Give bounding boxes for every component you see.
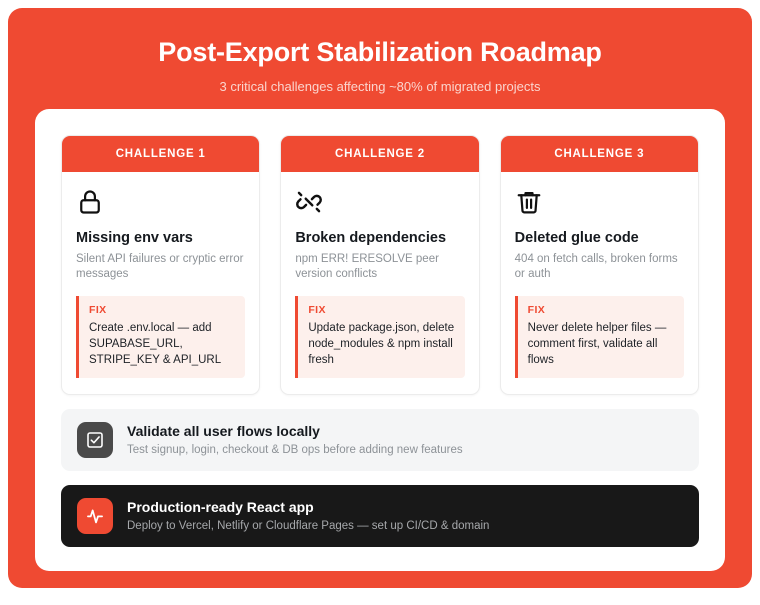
fix-text: Create .env.local — add SUPABASE_URL, ST…: [89, 320, 235, 368]
lock-icon: [76, 188, 104, 216]
challenge-badge: CHALLENGE 3: [501, 136, 698, 172]
fix-box: FIX Never delete helper files — comment …: [515, 296, 684, 378]
screenshot-root: Post-Export Stabilization Roadmap 3 crit…: [0, 0, 760, 605]
production-banner[interactable]: Production-ready React app Deploy to Ver…: [61, 485, 699, 547]
challenge-description: npm ERR! ERESOLVE peer version conflicts: [295, 252, 464, 282]
challenge-grid: CHALLENGE 1 Missing env vars Silent API …: [61, 135, 699, 395]
page-title: Post-Export Stabilization Roadmap: [28, 36, 732, 68]
page-subtitle: 3 critical challenges affecting ~80% of …: [28, 78, 732, 95]
validate-banner-title: Validate all user flows locally: [127, 423, 463, 440]
fix-box: FIX Create .env.local — add SUPABASE_URL…: [76, 296, 245, 378]
content-panel: CHALLENGE 1 Missing env vars Silent API …: [35, 109, 725, 571]
poster-header: Post-Export Stabilization Roadmap 3 crit…: [8, 8, 752, 109]
challenge-description: Silent API failures or cryptic error mes…: [76, 252, 245, 282]
fix-box: FIX Update package.json, delete node_mod…: [295, 296, 464, 378]
fix-label: FIX: [89, 304, 235, 316]
challenge-body: Missing env vars Silent API failures or …: [62, 172, 259, 394]
production-banner-title: Production-ready React app: [127, 499, 489, 516]
challenge-badge: CHALLENGE 1: [62, 136, 259, 172]
challenge-description: 404 on fetch calls, broken forms or auth: [515, 252, 684, 282]
roadmap-poster: Post-Export Stabilization Roadmap 3 crit…: [8, 8, 752, 588]
check-square-icon: [77, 422, 113, 458]
validate-banner-text: Validate all user flows locally Test sig…: [127, 423, 463, 458]
challenge-title: Deleted glue code: [515, 229, 684, 247]
production-banner-text: Production-ready React app Deploy to Ver…: [127, 499, 489, 534]
fix-text: Update package.json, delete node_modules…: [308, 320, 454, 368]
validate-banner-subtitle: Test signup, login, checkout & DB ops be…: [127, 443, 463, 458]
challenge-body: Deleted glue code 404 on fetch calls, br…: [501, 172, 698, 394]
trash-icon: [515, 188, 543, 216]
activity-pulse-icon: [77, 498, 113, 534]
fix-label: FIX: [528, 304, 674, 316]
fix-label: FIX: [308, 304, 454, 316]
broken-link-icon: [295, 188, 323, 216]
fix-text: Never delete helper files — comment firs…: [528, 320, 674, 368]
challenge-card[interactable]: CHALLENGE 3 Deleted glue code: [500, 135, 699, 395]
challenge-card[interactable]: CHALLENGE 2 Broken dependencies: [280, 135, 479, 395]
challenge-title: Broken dependencies: [295, 229, 464, 247]
challenge-card[interactable]: CHALLENGE 1 Missing env vars Silent API …: [61, 135, 260, 395]
production-banner-subtitle: Deploy to Vercel, Netlify or Cloudflare …: [127, 519, 489, 534]
challenge-body: Broken dependencies npm ERR! ERESOLVE pe…: [281, 172, 478, 394]
validate-banner[interactable]: Validate all user flows locally Test sig…: [61, 409, 699, 471]
challenge-badge: CHALLENGE 2: [281, 136, 478, 172]
challenge-title: Missing env vars: [76, 229, 245, 247]
